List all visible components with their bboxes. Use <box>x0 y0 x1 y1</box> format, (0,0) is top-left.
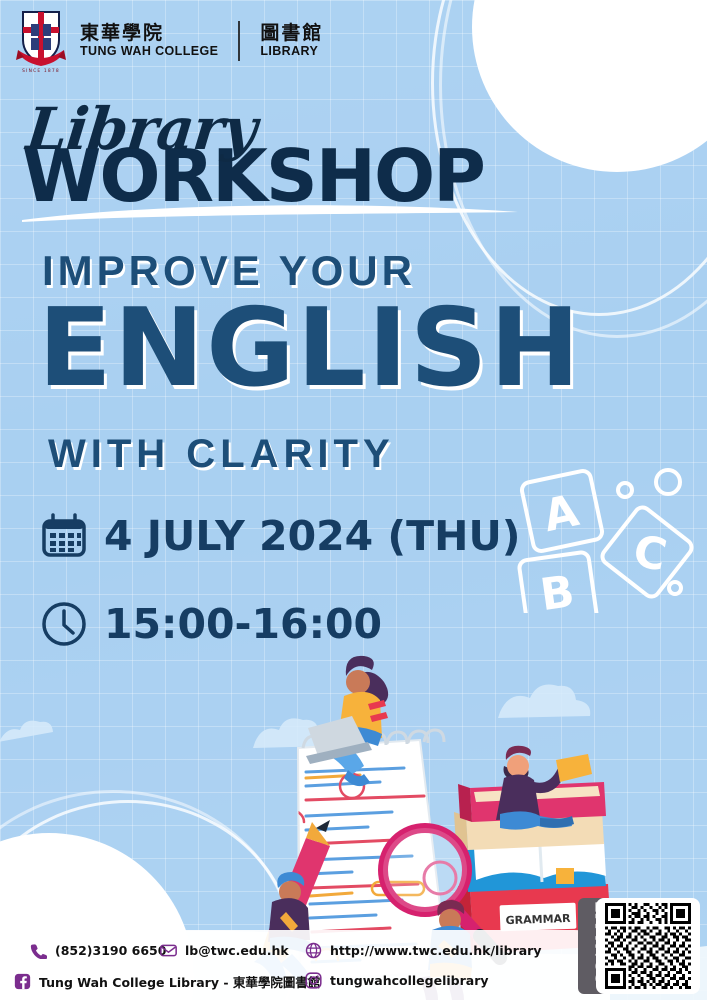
envelope-icon <box>160 942 177 959</box>
website-text: http://www.twc.edu.hk/library <box>330 943 541 958</box>
email-text: lb@twc.edu.hk <box>185 943 289 958</box>
phone-icon <box>30 942 47 959</box>
college-name-cn: 東華學院 <box>80 23 218 45</box>
calendar-icon <box>40 512 88 560</box>
svg-text:SINCE 1878: SINCE 1878 <box>22 68 60 74</box>
facebook-icon <box>14 973 31 990</box>
poster-canvas: SINCE 1878 東華學院 TUNG WAH COLLEGE 圖書館 LIB… <box>0 0 707 1000</box>
phone-text: (852)3190 6650 <box>55 943 166 958</box>
date-row: 4 JULY 2024 (THU) <box>40 512 521 560</box>
facebook-text: Tung Wah College Library - 東華學院圖書館 <box>39 972 320 991</box>
instagram-text: tungwahcollegelibrary <box>330 973 489 988</box>
qr-code-card[interactable] <box>596 898 700 994</box>
headline-line-3: WITH CLARITY <box>48 432 395 477</box>
library-name-en: LIBRARY <box>260 44 323 59</box>
abc-blocks-decoration: A B C <box>505 468 707 613</box>
contact-facebook[interactable]: Tung Wah College Library - 東華學院圖書館 <box>14 972 320 991</box>
grammar-book-label: GRAMMAR <box>505 912 571 927</box>
abc-block-letter-a: A <box>539 485 583 542</box>
contact-phone[interactable]: (852)3190 6650 <box>30 942 166 959</box>
globe-icon <box>305 942 322 959</box>
cloud-shapes <box>0 685 590 749</box>
instagram-icon <box>305 972 322 989</box>
qr-code-icon <box>601 903 695 989</box>
contact-website[interactable]: http://www.twc.edu.hk/library <box>305 942 541 959</box>
headline-line-2: ENGLISH <box>38 295 582 403</box>
event-date: 4 JULY 2024 (THU) <box>104 512 521 560</box>
title-script: Library <box>23 95 259 163</box>
college-name-en: TUNG WAH COLLEGE <box>80 44 218 59</box>
brand-header: SINCE 1878 東華學院 TUNG WAH COLLEGE 圖書館 LIB… <box>14 8 323 74</box>
qr-code-block[interactable]: SCAN ME <box>578 898 704 996</box>
library-name-cn: 圖書館 <box>260 23 323 45</box>
abc-block-letter-c: C <box>629 525 671 582</box>
abc-block-letter-b: B <box>537 566 577 613</box>
tung-wah-college-crest-icon: SINCE 1878 <box>14 8 68 74</box>
header-divider <box>238 21 240 61</box>
contact-email[interactable]: lb@twc.edu.hk <box>160 942 289 959</box>
contact-instagram[interactable]: tungwahcollegelibrary <box>305 972 489 989</box>
